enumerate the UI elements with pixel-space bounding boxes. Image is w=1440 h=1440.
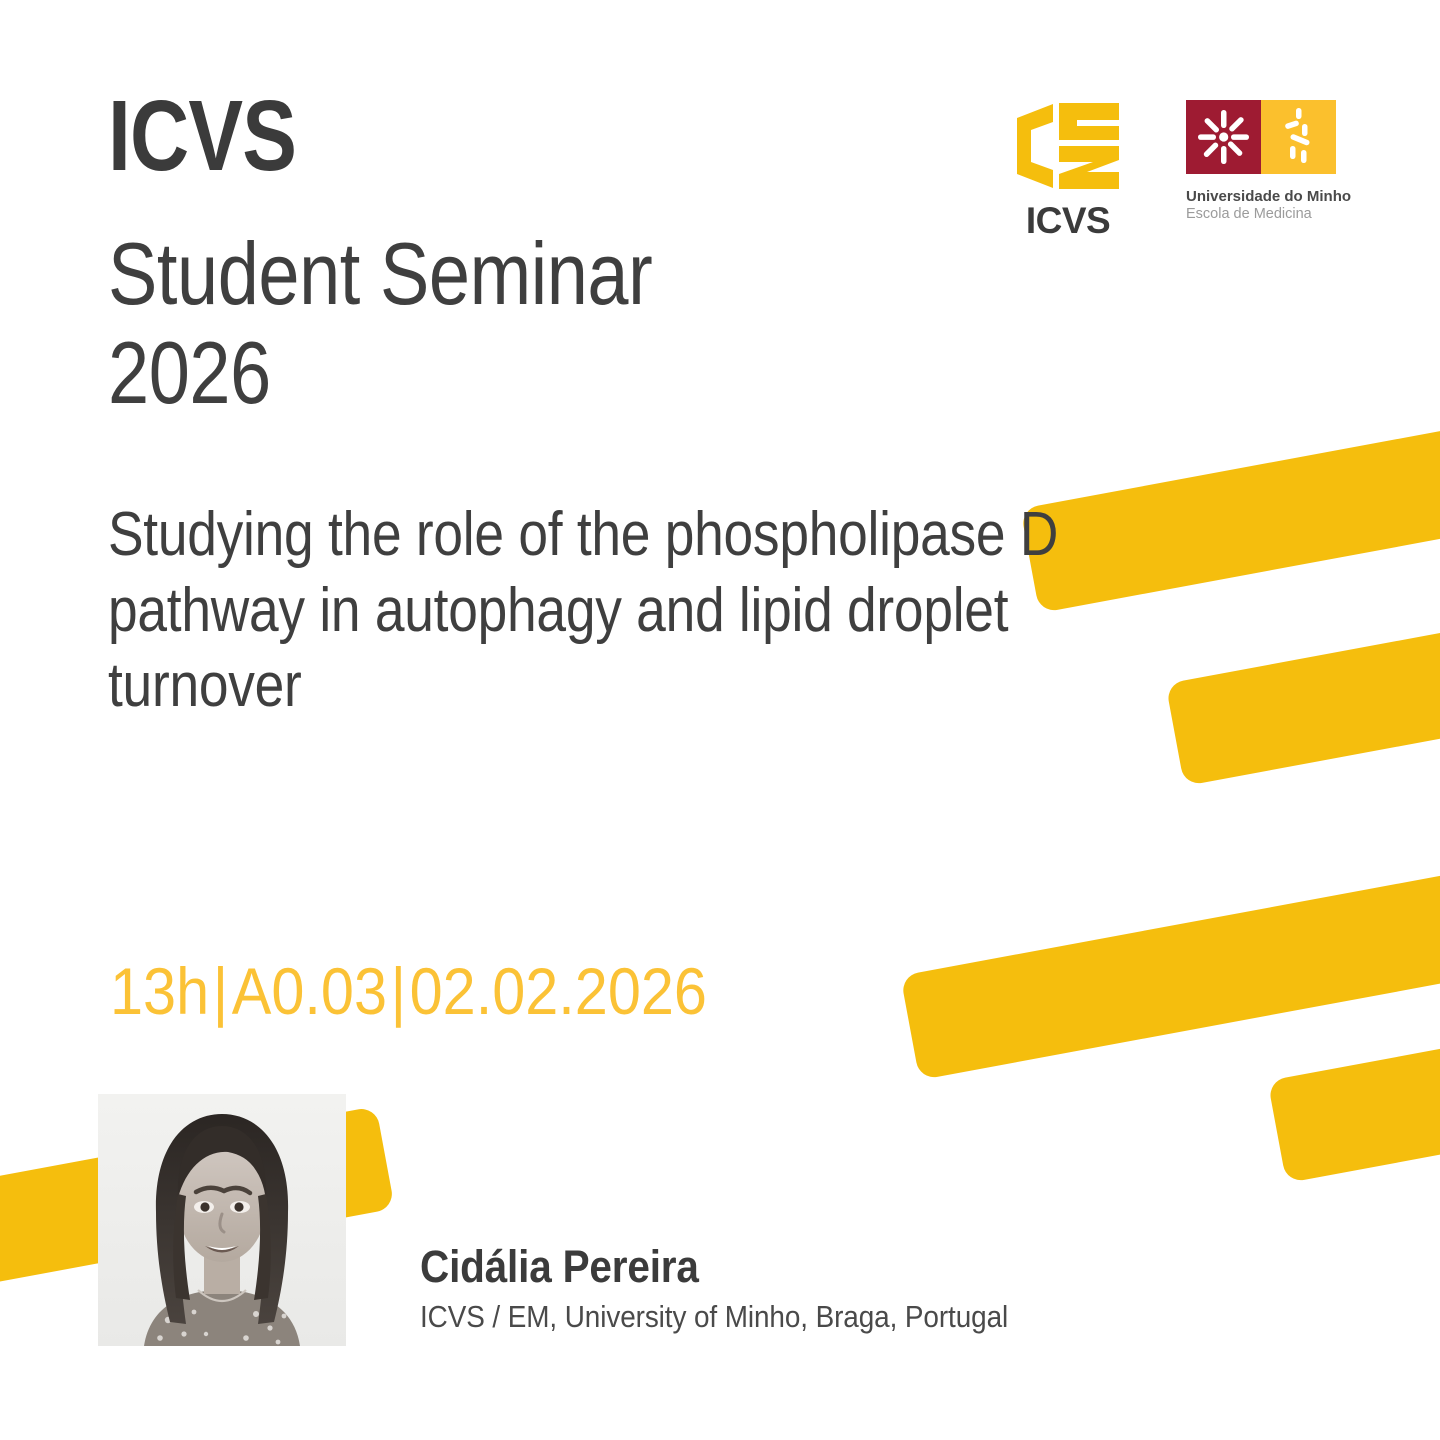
uminho-yellow-panel: [1261, 100, 1336, 174]
diagonal-bar-1: [1020, 400, 1440, 614]
icvs-wordmark: ICVS: [1026, 202, 1110, 239]
uminho-flag-icon: [1186, 100, 1336, 174]
uminho-logo: Universidade do Minho Escola de Medicina: [1186, 100, 1336, 224]
event-time: 13h: [110, 954, 209, 1028]
logo-row: ICVS: [1008, 100, 1336, 239]
uminho-asterisk-icon: [1186, 100, 1261, 174]
diagonal-bar-4: [1268, 1015, 1440, 1183]
event-separator-1: |: [209, 954, 232, 1028]
event-separator-2: |: [387, 954, 410, 1028]
uminho-wordmark: Universidade do Minho Escola de Medicina: [1186, 188, 1351, 224]
event-details: 13h|A0.03|02.02.2026: [110, 958, 707, 1024]
speaker-block: Cidália Pereira ICVS / EM, University of…: [420, 1243, 1320, 1335]
icvs-folded-mark-icon: [1013, 100, 1123, 192]
speaker-photo: [98, 1094, 346, 1346]
page-title-brand: ICVS: [108, 86, 296, 186]
uminho-name: Universidade do Minho: [1186, 188, 1351, 206]
seminar-poster: ICVS: [0, 0, 1440, 1440]
speaker-portrait-image: [98, 1094, 346, 1346]
page-title-series: Student Seminar 2026: [108, 225, 652, 422]
diagonal-bar-2: [1166, 600, 1440, 786]
speaker-name: Cidália Pereira: [420, 1243, 1230, 1290]
speaker-affiliation: ICVS / EM, University of Minho, Braga, P…: [420, 1299, 1230, 1335]
uminho-figure-icon: [1261, 100, 1336, 174]
event-date: 02.02.2026: [410, 954, 707, 1028]
uminho-school: Escola de Medicina: [1186, 206, 1351, 224]
icvs-logo: ICVS: [1008, 100, 1128, 239]
diagonal-bar-3: [900, 845, 1440, 1080]
talk-title: Studying the role of the phospholipase D…: [108, 497, 1071, 724]
uminho-red-panel: [1186, 100, 1261, 174]
event-room: A0.03: [232, 954, 387, 1028]
